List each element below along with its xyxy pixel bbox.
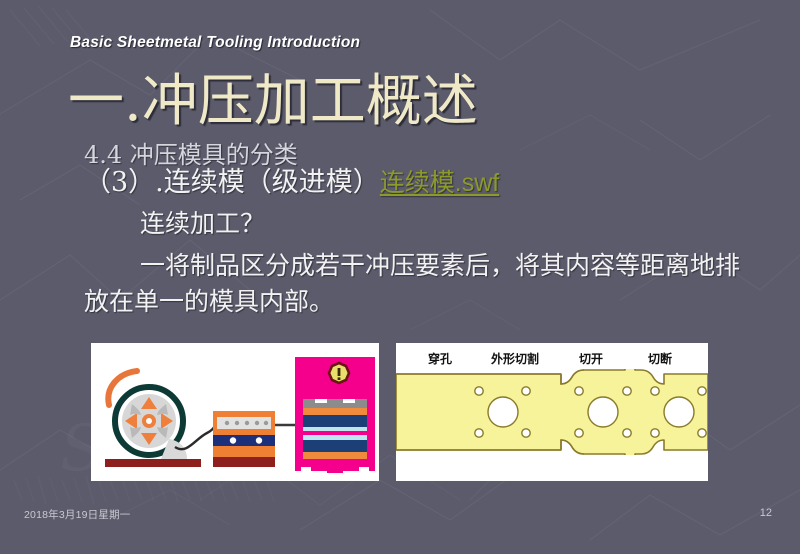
coil-feeder-press-figure (91, 343, 379, 481)
die-upper-shoe (303, 399, 367, 408)
page-title: 一.冲压加工概述 (68, 74, 478, 130)
body-text-block: （3）.连续模（级进模）连续模.swf 连续加工？ 一将制品区分成若干冲压要素后… (84, 166, 754, 320)
station-label-1-top: 穿孔 (428, 351, 452, 366)
roll-feeder (213, 411, 275, 467)
body-line-1: （3）.连续模（级进模）连续模.swf (84, 166, 754, 200)
header-title: Basic Sheetmetal Tooling Introduction (70, 34, 360, 52)
feeder-control-band (213, 435, 275, 446)
warning-sign (329, 363, 349, 383)
station-label-3-top: 切开 (579, 352, 603, 366)
footer-page-number: 12 (760, 507, 772, 519)
body-line-1-prefix: （3）.连续模（级进模） (84, 167, 380, 198)
station-label-2-top: 外形切割 (491, 351, 539, 366)
slide-canvas: S Basic Sheetmetal Tooling Introduction … (0, 0, 800, 554)
die-lower-shoe (303, 440, 367, 452)
die-plate-orange (303, 408, 367, 415)
body-line-3: 一将制品区分成若干冲压要素后，将其内容等距离地排放在单一的模具内部。 (84, 248, 754, 320)
base-rail (105, 459, 201, 467)
progressive-die-strip-figure: 穿孔 外形切割 切开 切断 (396, 343, 708, 481)
footer-date: 2018年3月19日星期一 (24, 507, 130, 522)
swf-hyperlink[interactable]: 连续模.swf (380, 169, 499, 197)
body-line-2: 连续加工？ (84, 207, 754, 241)
die-upper-block (303, 415, 367, 427)
station-label-4-top: 切断 (648, 351, 672, 366)
section-subtitle: 4.4 冲压模具的分类 (84, 135, 298, 170)
press-frame (295, 357, 375, 475)
